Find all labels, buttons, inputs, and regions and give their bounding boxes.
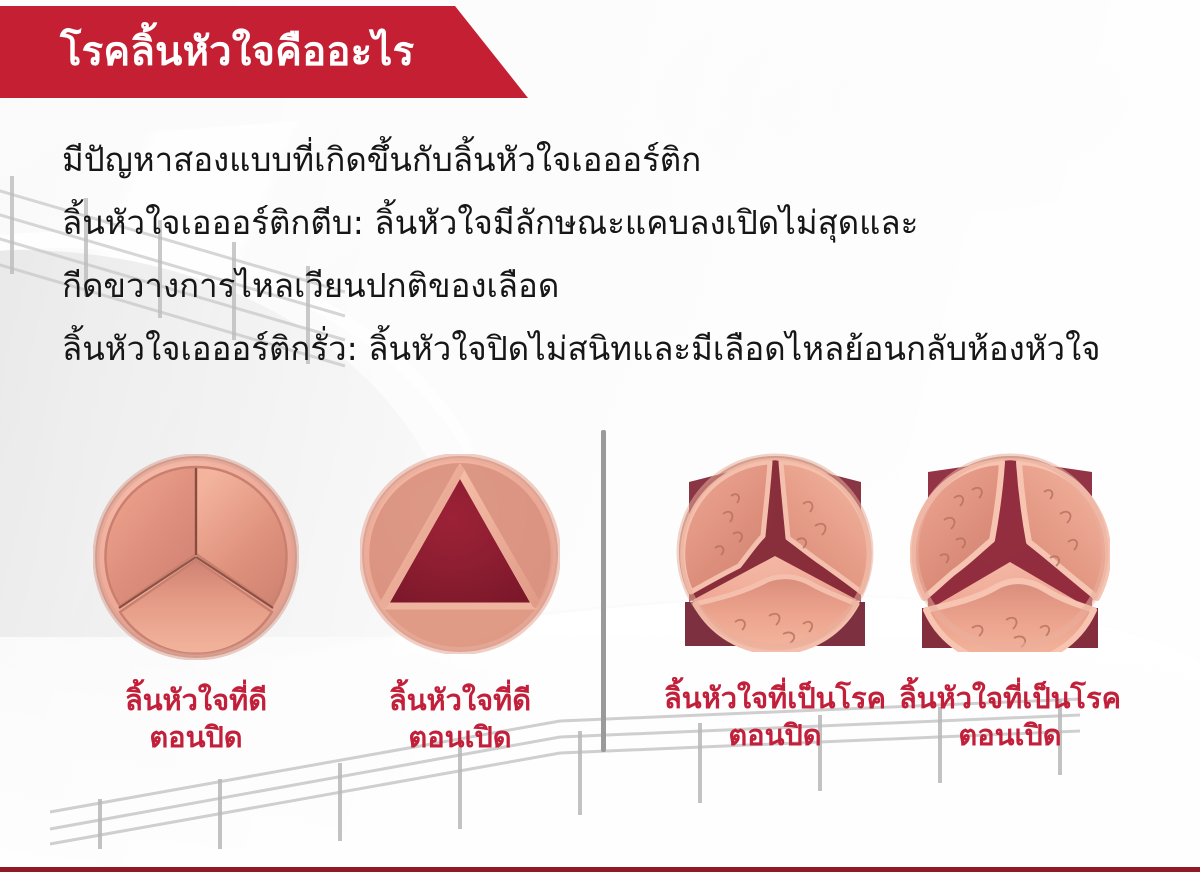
- valve-label-healthy-open: ลิ้นหัวใจที่ดี ตอนเปิด: [325, 682, 595, 756]
- valve-figure-healthy-closed: ลิ้นหัวใจที่ดี ตอนปิด: [61, 454, 331, 756]
- valve-figure-diseased-closed: ลิ้นหัวใจที่เป็นโรค ตอนปิด: [640, 452, 910, 754]
- valve-label-line-1: ลิ้นหัวใจที่เป็นโรค: [664, 681, 886, 715]
- valve-label-line-2: ตอนเปิด: [325, 719, 595, 756]
- header-banner: โรคลิ้นหัวใจคืออะไร: [0, 6, 528, 98]
- valve-label-line-2: ตอนเปิด: [875, 717, 1145, 754]
- valve-label-line-2: ตอนปิด: [640, 717, 910, 754]
- valve-label-line-1: ลิ้นหัวใจที่ดี: [389, 683, 531, 717]
- valve-label-line-1: ลิ้นหัวใจที่เป็นโรค: [899, 681, 1121, 715]
- valve-figure-healthy-open: ลิ้นหัวใจที่ดี ตอนเปิด: [325, 454, 595, 756]
- valve-figure-diseased-open: ลิ้นหัวใจที่เป็นโรค ตอนเปิด: [875, 452, 1145, 754]
- infographic-page: โรคลิ้นหัวใจคืออะไร มีปัญหาสองแบบที่เกิด…: [0, 0, 1200, 872]
- body-line-4: ลิ้นหัวใจเอออร์ติกรั่ว: ลิ้นหัวใจปิดไม่ส…: [62, 317, 1172, 380]
- valve-label-diseased-open: ลิ้นหัวใจที่เป็นโรค ตอนเปิด: [875, 680, 1145, 754]
- valve-label-line-2: ตอนปิด: [61, 719, 331, 756]
- body-line-2: ลิ้นหัวใจเอออร์ติกตีบ: ลิ้นหัวใจมีลักษณะ…: [62, 191, 1172, 254]
- valve-label-healthy-closed: ลิ้นหัวใจที่ดี ตอนปิด: [61, 682, 331, 756]
- body-paragraph: มีปัญหาสองแบบที่เกิดขึ้นกับลิ้นหัวใจเอออ…: [62, 128, 1172, 380]
- heart-valve-healthy-closed-icon: [61, 454, 331, 670]
- valve-label-line-1: ลิ้นหัวใจที่ดี: [125, 683, 267, 717]
- heart-valve-diseased-open-icon: [875, 452, 1145, 668]
- valve-figure-strip: ลิ้นหัวใจที่ดี ตอนปิด: [0, 430, 1200, 770]
- body-line-1: มีปัญหาสองแบบที่เกิดขึ้นกับลิ้นหัวใจเอออ…: [62, 128, 1172, 191]
- heart-valve-diseased-closed-icon: [640, 452, 910, 668]
- valve-label-diseased-closed: ลิ้นหัวใจที่เป็นโรค ตอนปิด: [640, 680, 910, 754]
- panel-divider: [601, 430, 606, 752]
- heart-valve-healthy-open-icon: [325, 454, 595, 670]
- page-title: โรคลิ้นหัวใจคืออะไร: [60, 32, 414, 72]
- body-line-3: กีดขวางการไหลเวียนปกติของเลือด: [62, 254, 1172, 317]
